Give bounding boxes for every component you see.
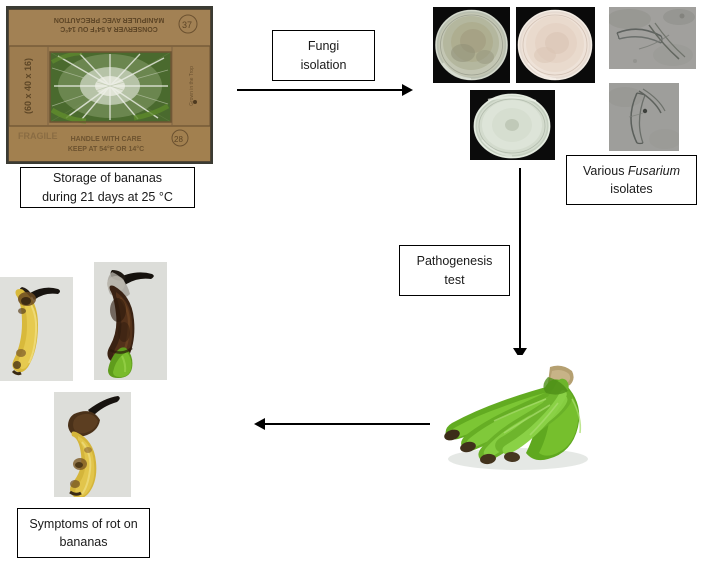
arrow-isolates-to-pathogenesis: [512, 168, 528, 359]
caption-storage-of-bananas: Storage of bananas during 21 days at 25 …: [20, 167, 195, 208]
svg-text:28: 28: [174, 135, 183, 144]
caption-genus-name: Fusarium: [628, 164, 680, 178]
caption-line-1: Fungi: [308, 37, 339, 55]
arrow-head-left-icon: [254, 418, 265, 430]
arrow-shaft: [263, 423, 430, 425]
caption-prefix: Various: [583, 164, 628, 178]
caption-various-fusarium-isolates: Various Fusarium isolates: [566, 155, 697, 205]
rotten-banana-1-photo: [0, 277, 73, 381]
caption-line-2: isolation: [301, 56, 347, 74]
svg-text:Grown in the Trop: Grown in the Trop: [189, 66, 195, 106]
arrow-storage-to-isolation: [237, 83, 413, 97]
petri-dish-isolate-2-photo: [516, 7, 595, 83]
svg-text:MANIPULER AVEC PRECAUTION: MANIPULER AVEC PRECAUTION: [54, 16, 164, 23]
figure-canvas: CONSERVER A 54°F OU 14°C MANIPULER AVEC …: [0, 0, 703, 568]
svg-text:FRAGILE: FRAGILE: [18, 131, 58, 141]
caption-pathogenesis-test: Pathogenesis test: [399, 245, 510, 296]
svg-text:(60 x 40 x 16): (60 x 40 x 16): [23, 58, 33, 114]
caption-line-2: test: [444, 271, 464, 289]
caption-line-1: Various Fusarium: [583, 162, 680, 180]
petri-dish-isolate-3-photo: [470, 90, 555, 160]
arrow-shaft: [519, 168, 521, 349]
caption-symptoms-of-rot: Symptoms of rot on bananas: [17, 508, 150, 558]
green-banana-bunch-photo: [422, 355, 600, 473]
svg-text:37: 37: [182, 20, 192, 30]
rotten-banana-3-photo: [54, 392, 131, 497]
caption-line-1: Symptoms of rot on: [29, 515, 137, 533]
arrow-greenbananas-to-symptoms: [254, 417, 430, 431]
micrograph-macroconidia-1-photo: [609, 7, 696, 69]
arrow-head-right-icon: [402, 84, 413, 96]
caption-line-2: isolates: [610, 180, 652, 198]
svg-text:HANDLE WITH CARE: HANDLE WITH CARE: [71, 136, 142, 143]
caption-fungi-isolation: Fungi isolation: [272, 30, 375, 81]
caption-line-1: Pathogenesis: [417, 252, 493, 270]
caption-line-2: during 21 days at 25 °C: [42, 188, 173, 206]
caption-line-1: Storage of bananas: [53, 169, 162, 187]
petri-dish-isolate-1-photo: [433, 7, 510, 83]
cardboard-box-of-bananas-photo: CONSERVER A 54°F OU 14°C MANIPULER AVEC …: [6, 6, 213, 164]
arrow-shaft: [237, 89, 404, 91]
svg-text:KEEP AT 54°F OR 14°C: KEEP AT 54°F OR 14°C: [68, 145, 144, 153]
micrograph-macroconidia-2-photo: [609, 83, 679, 151]
rotten-banana-2-photo: [94, 262, 167, 380]
caption-line-2: bananas: [60, 533, 108, 551]
svg-text:CONSERVER A 54°F OU 14°C: CONSERVER A 54°F OU 14°C: [60, 25, 158, 33]
